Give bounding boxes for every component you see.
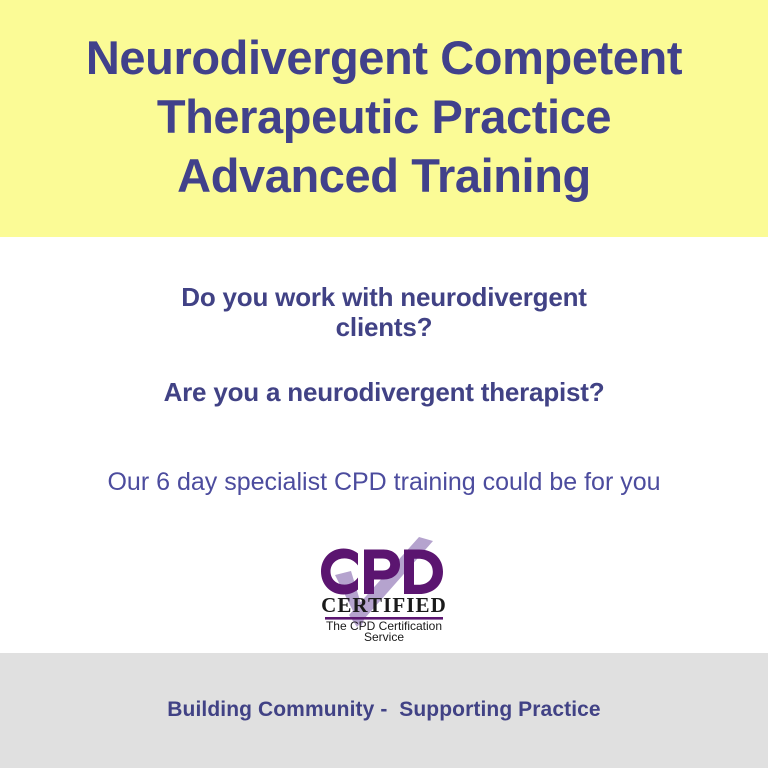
question-work-with-neurodivergent-clients: Do you work with neurodivergent clients?: [144, 282, 624, 342]
cpd-certified-logo: CERTIFIED The CPD Certification Service: [299, 531, 469, 643]
page-title-line-2: Therapeutic Practice: [157, 87, 611, 146]
page-title-line-3: Advanced Training: [177, 146, 591, 205]
footer-tagline: Building Community - Supporting Practice: [167, 698, 600, 722]
header-band: Neurodivergent Competent Therapeutic Pra…: [0, 0, 768, 237]
question-block: Do you work with neurodivergent clients?…: [0, 282, 768, 407]
tagline-text: Our 6 day specialist CPD training could …: [107, 467, 660, 497]
cpd-certified-text: CERTIFIED: [321, 593, 447, 617]
page-title-line-1: Neurodivergent Competent: [86, 28, 682, 87]
poster-canvas: Neurodivergent Competent Therapeutic Pra…: [0, 0, 768, 768]
cpd-service-line-2: Service: [364, 630, 404, 643]
main-content: Do you work with neurodivergent clients?…: [0, 237, 768, 653]
question-are-you-neurodivergent-therapist: Are you a neurodivergent therapist?: [0, 377, 768, 407]
footer-band: Building Community - Supporting Practice: [0, 653, 768, 768]
